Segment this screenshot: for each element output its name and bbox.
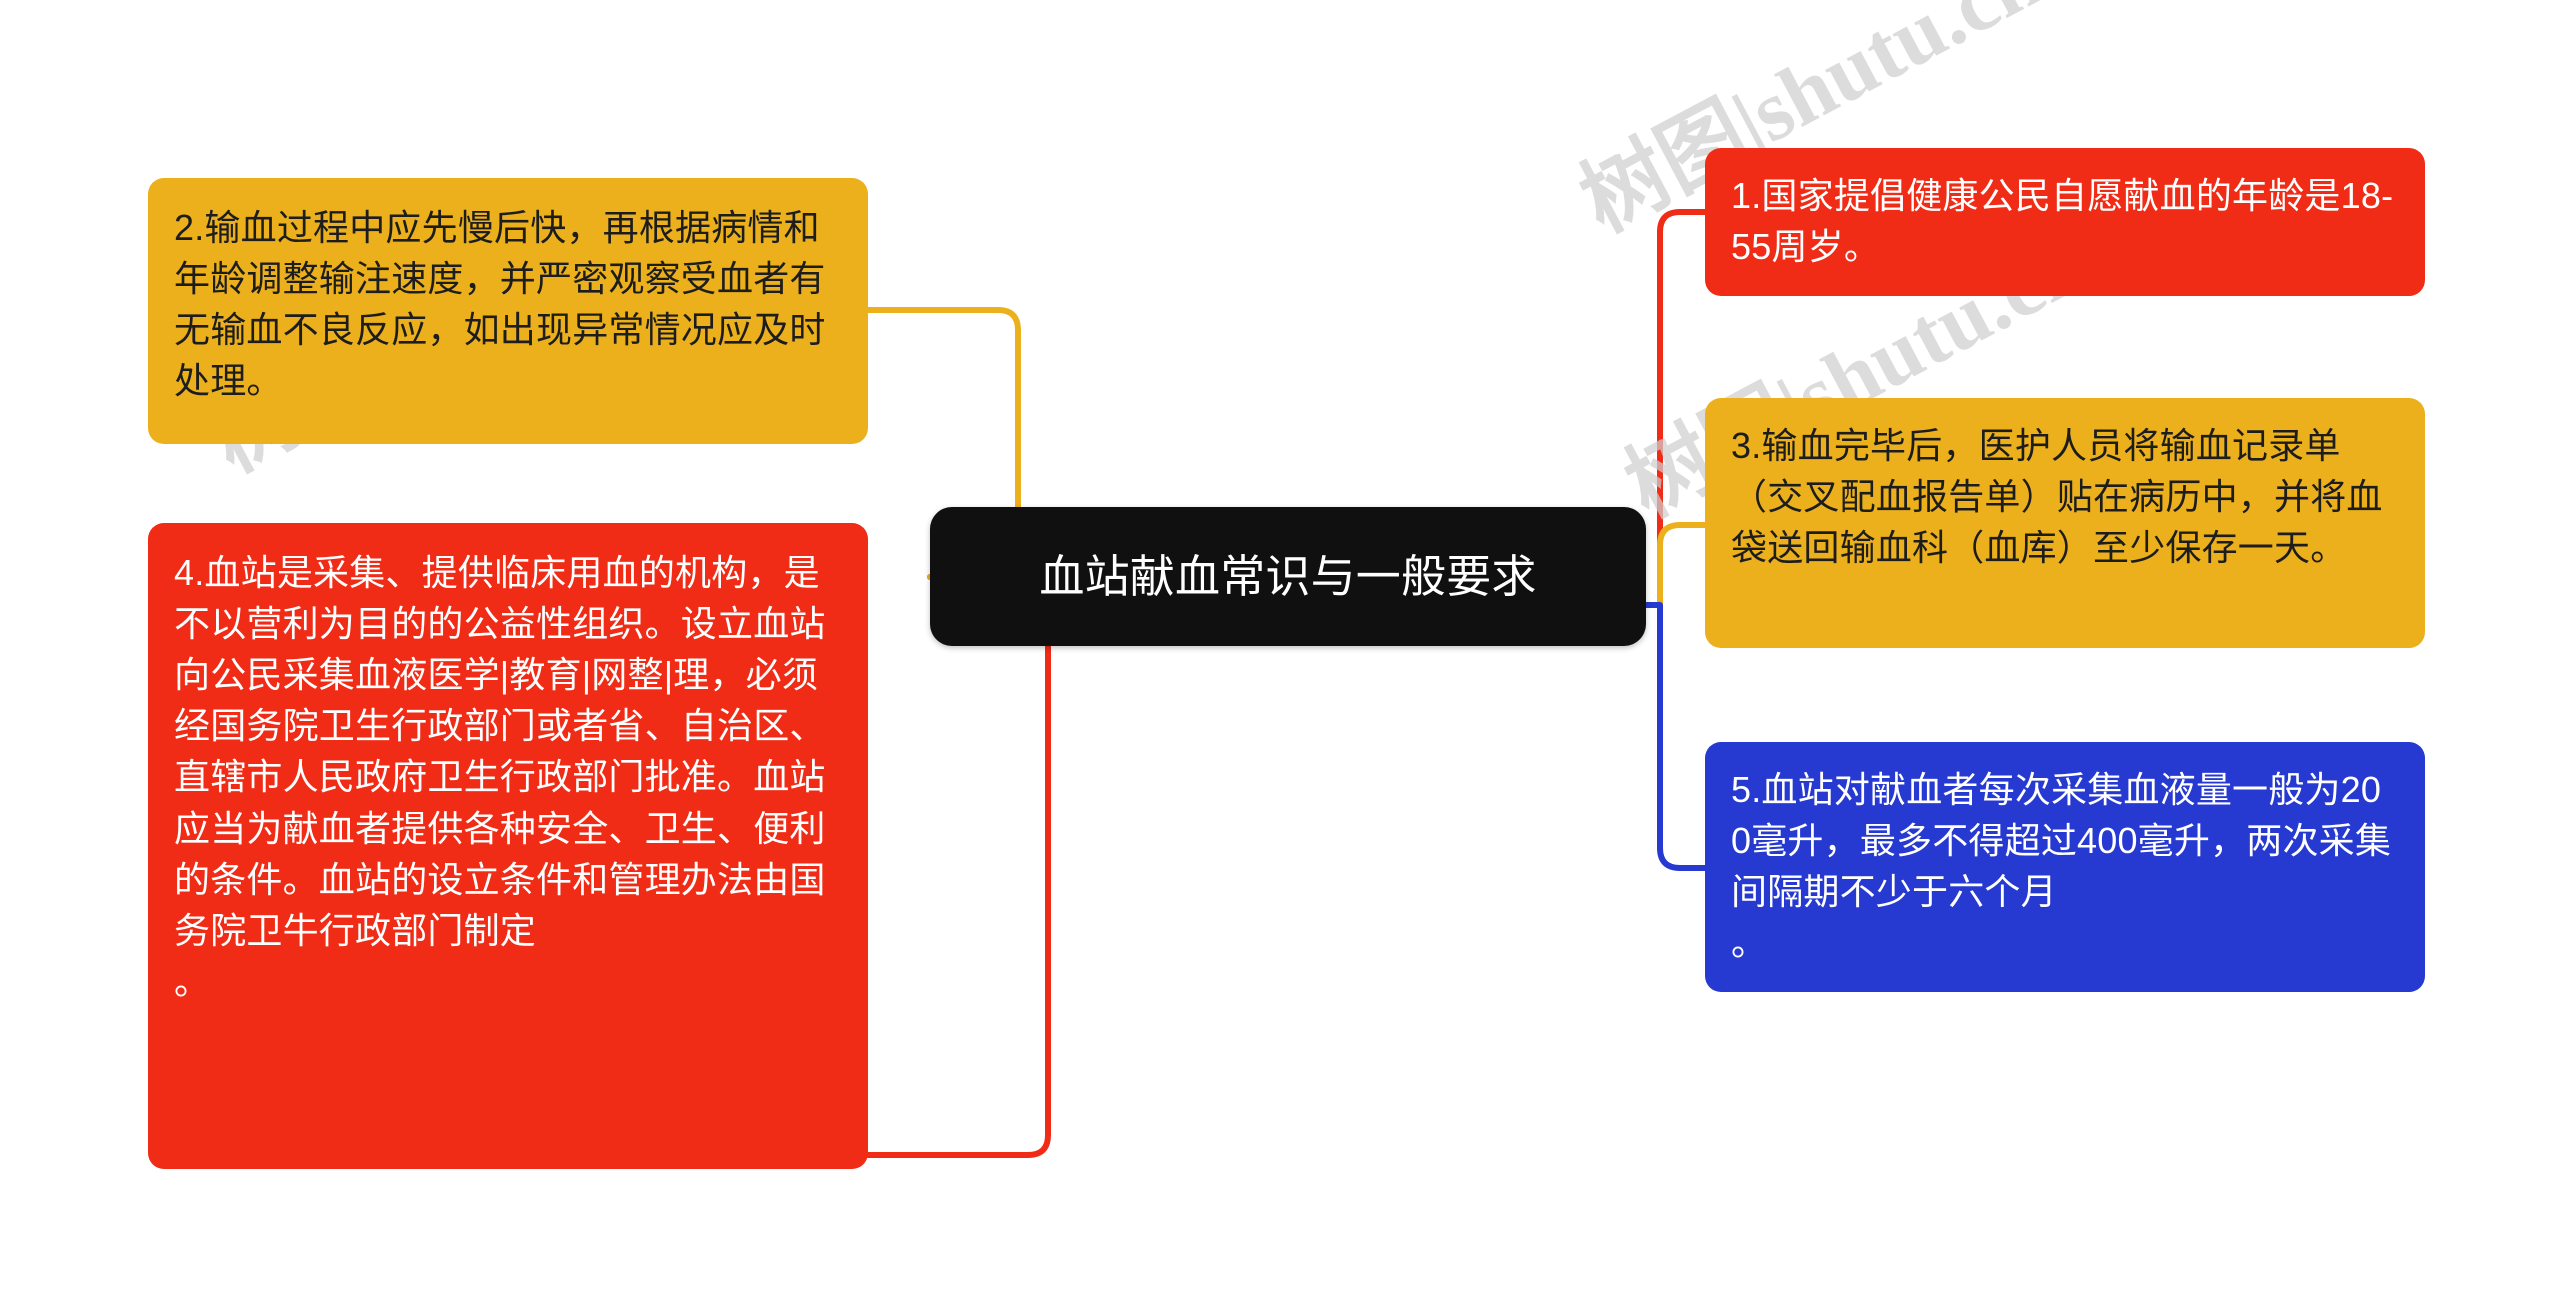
connector-node1 [1646, 212, 1705, 605]
central-topic-label: 血站献血常识与一般要求 [1039, 552, 1536, 602]
branch-node-4[interactable]: 4.血站是采集、提供临床用血的机构，是不以营利为目的的公益性组织。设立血站向公民… [148, 523, 868, 1169]
branch-node-5-label: 5.血站对献血者每次采集血液量一般为200毫升，最多不得超过400毫升，两次采集… [1731, 764, 2399, 968]
branch-node-1-label: 1.国家提倡健康公民自愿献血的年龄是18-55周岁。 [1731, 170, 2399, 272]
branch-node-5[interactable]: 5.血站对献血者每次采集血液量一般为200毫升，最多不得超过400毫升，两次采集… [1705, 742, 2425, 992]
central-topic-node[interactable]: 血站献血常识与一般要求 [930, 507, 1646, 646]
branch-node-3[interactable]: 3.输血完毕后，医护人员将输血记录单（交叉配血报告单）贴在病历中，并将血袋送回输… [1705, 398, 2425, 648]
mindmap-canvas: 树图|shutu.cn 树图|shutu.cn 树图|shutu.cn 血站献血… [0, 0, 2560, 1295]
branch-node-2-label: 2.输血过程中应先慢后快，再根据病情和年龄调整输注速度，并严密观察受血者有无输血… [174, 202, 842, 406]
connector-node5 [1646, 605, 1705, 868]
branch-node-1[interactable]: 1.国家提倡健康公民自愿献血的年龄是18-55周岁。 [1705, 148, 2425, 296]
branch-node-3-label: 3.输血完毕后，医护人员将输血记录单（交叉配血报告单）贴在病历中，并将血袋送回输… [1731, 420, 2399, 573]
connector-node3 [1646, 525, 1705, 605]
branch-node-4-label: 4.血站是采集、提供临床用血的机构，是不以营利为目的的公益性组织。设立血站向公民… [174, 547, 842, 1007]
branch-node-2[interactable]: 2.输血过程中应先慢后快，再根据病情和年龄调整输注速度，并严密观察受血者有无输血… [148, 178, 868, 444]
connector-node4 [868, 577, 1048, 1155]
